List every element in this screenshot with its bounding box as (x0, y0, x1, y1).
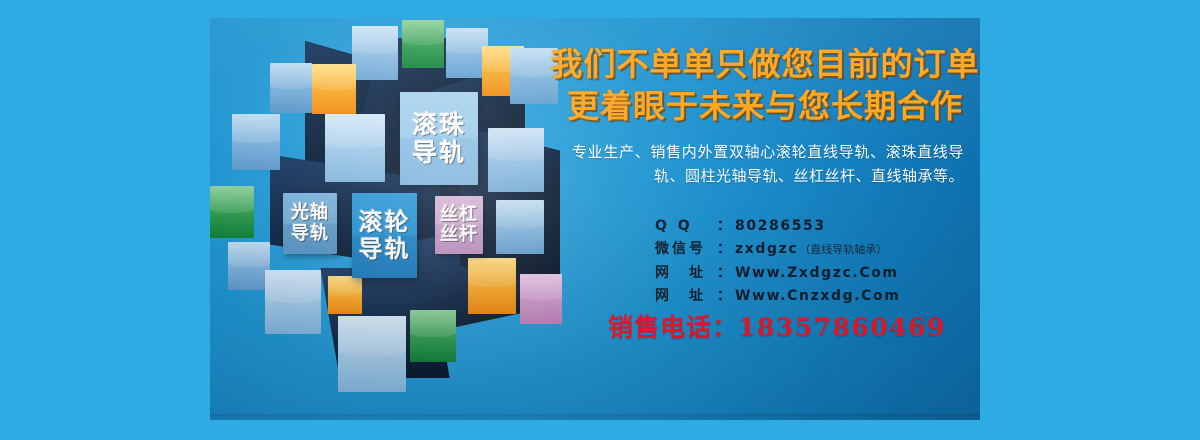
contact-row-website-1: 网 址 ： Www.Zxdgzc.Com (655, 263, 980, 284)
product-label-guangzhou-daogui[interactable]: 光轴 导轨 (283, 193, 337, 254)
product-label-line1: 滚轮 (359, 209, 411, 236)
cube-orange (328, 276, 362, 314)
product-label-line2: 导轨 (359, 236, 411, 263)
product-label-line1: 光轴 (291, 203, 329, 223)
contact-info-block: Q Q ： 80286553 微信号 ： zxdgzc （直线导轨轴承） 网 址… (655, 216, 980, 309)
cube-blue (496, 200, 544, 254)
cube-orange (468, 258, 516, 314)
cube-orange (312, 64, 356, 114)
contact-value-website-2[interactable]: Www.Cnzxdg.Com (735, 286, 900, 307)
promo-banner: 滚珠 导轨 光轴 导轨 滚轮 导轨 丝杠 丝杆 我们不单单只做您目前的订单 更着… (210, 18, 980, 420)
sales-phone-number[interactable]: 18357860469 (738, 313, 946, 342)
cube-blue (228, 242, 270, 290)
cube-green (410, 310, 456, 362)
product-label-sigang-sigan[interactable]: 丝杠 丝杆 (435, 196, 483, 254)
exploding-3d-cubes-graphic: 滚珠 导轨 光轴 导轨 滚轮 导轨 丝杠 丝杆 (210, 18, 560, 420)
contact-colon: ： (717, 216, 731, 237)
contact-note-wechat: （直线导轨轴承） (799, 242, 887, 259)
contact-colon: ： (717, 286, 731, 307)
cube-lightblue (338, 316, 406, 392)
cube-blue (270, 63, 312, 113)
contact-value-wechat[interactable]: zxdgzc (735, 239, 798, 260)
contact-label-wechat: 微信号 (655, 239, 717, 260)
contact-label-qq: Q Q (655, 216, 717, 237)
contact-value-website-1[interactable]: Www.Zxdgzc.Com (735, 263, 899, 284)
banner-text-content: 我们不单单只做您目前的订单 更着眼于未来与您长期合作 专业生产、销售内外置双轴心… (550, 18, 980, 420)
contact-row-wechat: 微信号 ： zxdgzc （直线导轨轴承） (655, 239, 980, 260)
banner-bottom-edge (210, 414, 980, 420)
contact-label-website: 网 址 (655, 263, 717, 284)
product-label-gunlun-daogui[interactable]: 滚轮 导轨 (352, 193, 417, 278)
contact-row-qq: Q Q ： 80286553 (655, 216, 980, 237)
company-description: 专业生产、销售内外置双轴心滚轮直线导轨、滚珠直线导轨、圆柱光轴导轨、丝杠丝杆、直… (572, 140, 964, 189)
contact-colon: ： (717, 263, 731, 284)
contact-colon: ： (717, 239, 731, 260)
cube-lightblue (265, 270, 321, 334)
product-label-line2: 丝杆 (440, 225, 478, 245)
headline-line-1: 我们不单单只做您目前的订单 (550, 44, 980, 86)
page-root: 滚珠 导轨 光轴 导轨 滚轮 导轨 丝杠 丝杆 我们不单单只做您目前的订单 更着… (0, 0, 1200, 440)
product-label-line2: 导轨 (412, 139, 466, 167)
cube-green (402, 20, 444, 68)
product-label-line1: 丝杠 (440, 205, 478, 225)
cube-blue (232, 114, 280, 170)
contact-value-qq[interactable]: 80286553 (735, 216, 826, 237)
headline-line-2: 更着眼于未来与您长期合作 (550, 86, 980, 128)
cube-lightblue (325, 114, 385, 182)
headline: 我们不单单只做您目前的订单 更着眼于未来与您长期合作 (550, 44, 980, 127)
cube-blue (352, 26, 398, 80)
cube-blue (488, 128, 544, 192)
cube-green (210, 186, 254, 238)
sales-phone-block: 销售电话：18357860469 (572, 308, 980, 344)
product-label-line2: 导轨 (291, 224, 329, 244)
product-label-gunzhu-daogui[interactable]: 滚珠 导轨 (400, 92, 478, 185)
contact-label-website: 网 址 (655, 286, 717, 307)
contact-row-website-2: 网 址 ： Www.Cnzxdg.Com (655, 286, 980, 307)
product-label-line1: 滚珠 (412, 111, 466, 139)
sales-phone-label: 销售电话： (608, 313, 738, 342)
